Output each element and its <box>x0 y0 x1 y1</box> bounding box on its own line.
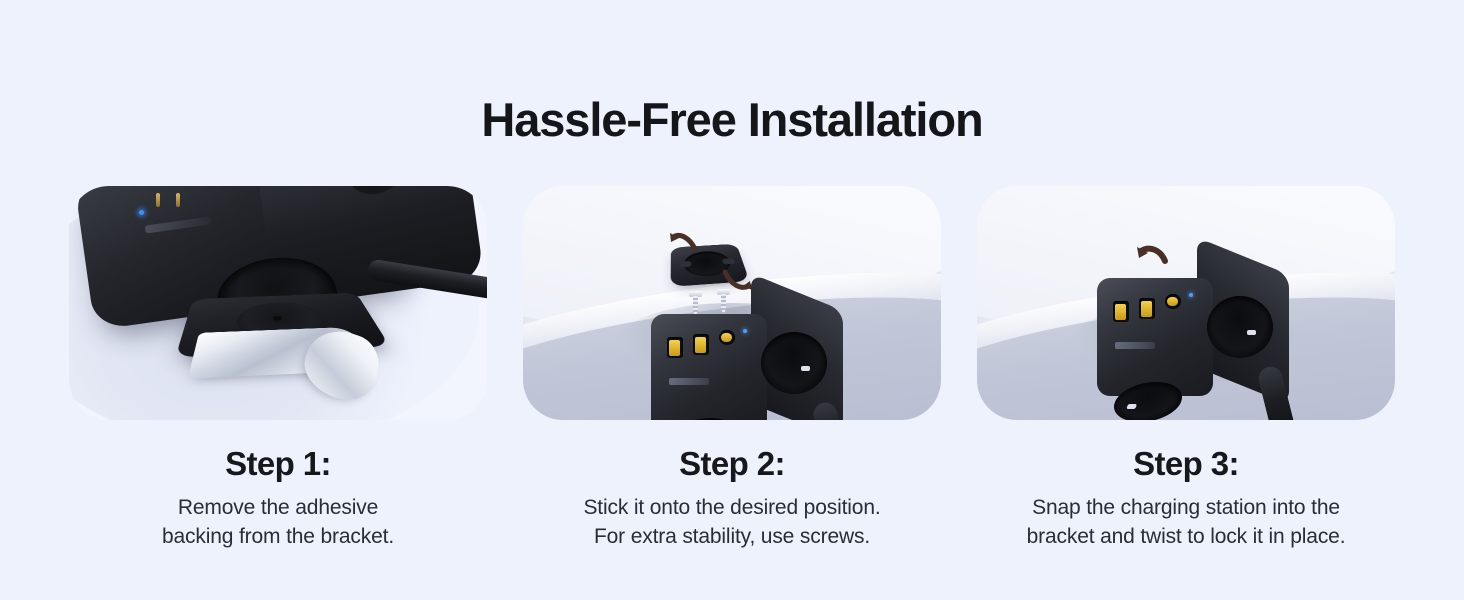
brand-logo <box>669 378 709 385</box>
step-1-desc-line-2: backing from the bracket. <box>69 523 487 552</box>
step-1: Step 1: Remove the adhesive backing from… <box>69 186 487 552</box>
step-3-image-card <box>977 186 1395 420</box>
step-1-image-card <box>69 186 487 420</box>
usb-c-port-icon <box>1165 294 1181 309</box>
rotate-arrow-left-icon <box>669 230 699 254</box>
usb-c-port-icon <box>719 330 735 345</box>
installation-infographic: Hassle-Free Installation <box>0 0 1464 600</box>
screw-shaft <box>721 294 726 315</box>
brand-logo <box>1115 342 1155 349</box>
prong-pin-icon <box>176 193 180 207</box>
usb-a-tongue <box>669 340 680 356</box>
steps-row: Step 1: Remove the adhesive backing from… <box>0 186 1464 552</box>
twist-lock-arrow-icon <box>1135 244 1169 266</box>
socket-contact <box>1126 404 1137 409</box>
page-title: Hassle-Free Installation <box>0 96 1464 143</box>
step-3-desc-line-1: Snap the charging station into the <box>977 494 1395 523</box>
socket-contact <box>1247 330 1256 335</box>
step-2-title: Step 2: <box>523 446 941 483</box>
step-3-title: Step 3: <box>977 446 1395 483</box>
step-3-desc-line-2: bracket and twist to lock it in place. <box>977 523 1395 552</box>
usb-a-tongue <box>1141 301 1152 317</box>
mounting-screw-icon <box>719 289 728 315</box>
usb-c-tongue <box>721 333 732 342</box>
step-2-scene <box>523 186 941 420</box>
step-1-scene <box>69 186 487 420</box>
led-indicator-icon <box>1189 293 1193 297</box>
prong-pin-icon <box>156 193 160 207</box>
usb-a-tongue <box>1115 304 1126 320</box>
usb-a-port-icon <box>667 337 683 358</box>
step-2: Step 2: Stick it onto the desired positi… <box>523 186 941 552</box>
bracket-tab <box>722 258 735 264</box>
eu-socket-icon <box>761 332 827 394</box>
usb-a-port-icon <box>1139 298 1155 319</box>
bracket-tab <box>679 261 691 267</box>
usb-a-port-icon <box>1113 301 1129 322</box>
led-indicator-icon <box>743 329 747 333</box>
usb-a-tongue <box>695 337 706 353</box>
cube-front-face <box>1097 278 1213 396</box>
step-2-description: Stick it onto the desired position. For … <box>523 494 941 552</box>
cube-front-face <box>651 314 767 420</box>
socket-contact <box>801 366 810 371</box>
step-3: Step 3: Snap the charging station into t… <box>977 186 1395 552</box>
step-1-title: Step 1: <box>69 446 487 483</box>
led-indicator-icon <box>139 210 144 215</box>
step-2-desc-line-1: Stick it onto the desired position. <box>523 494 941 523</box>
step-3-scene <box>977 186 1395 420</box>
usb-c-tongue <box>1167 297 1178 306</box>
step-1-desc-line-1: Remove the adhesive <box>69 494 487 523</box>
usb-a-port-icon <box>693 334 709 355</box>
step-2-desc-line-2: For extra stability, use screws. <box>523 523 941 552</box>
step-3-description: Snap the charging station into the brack… <box>977 494 1395 552</box>
step-1-description: Remove the adhesive backing from the bra… <box>69 494 487 552</box>
step-2-image-card <box>523 186 941 420</box>
eu-socket-icon <box>1207 296 1273 358</box>
